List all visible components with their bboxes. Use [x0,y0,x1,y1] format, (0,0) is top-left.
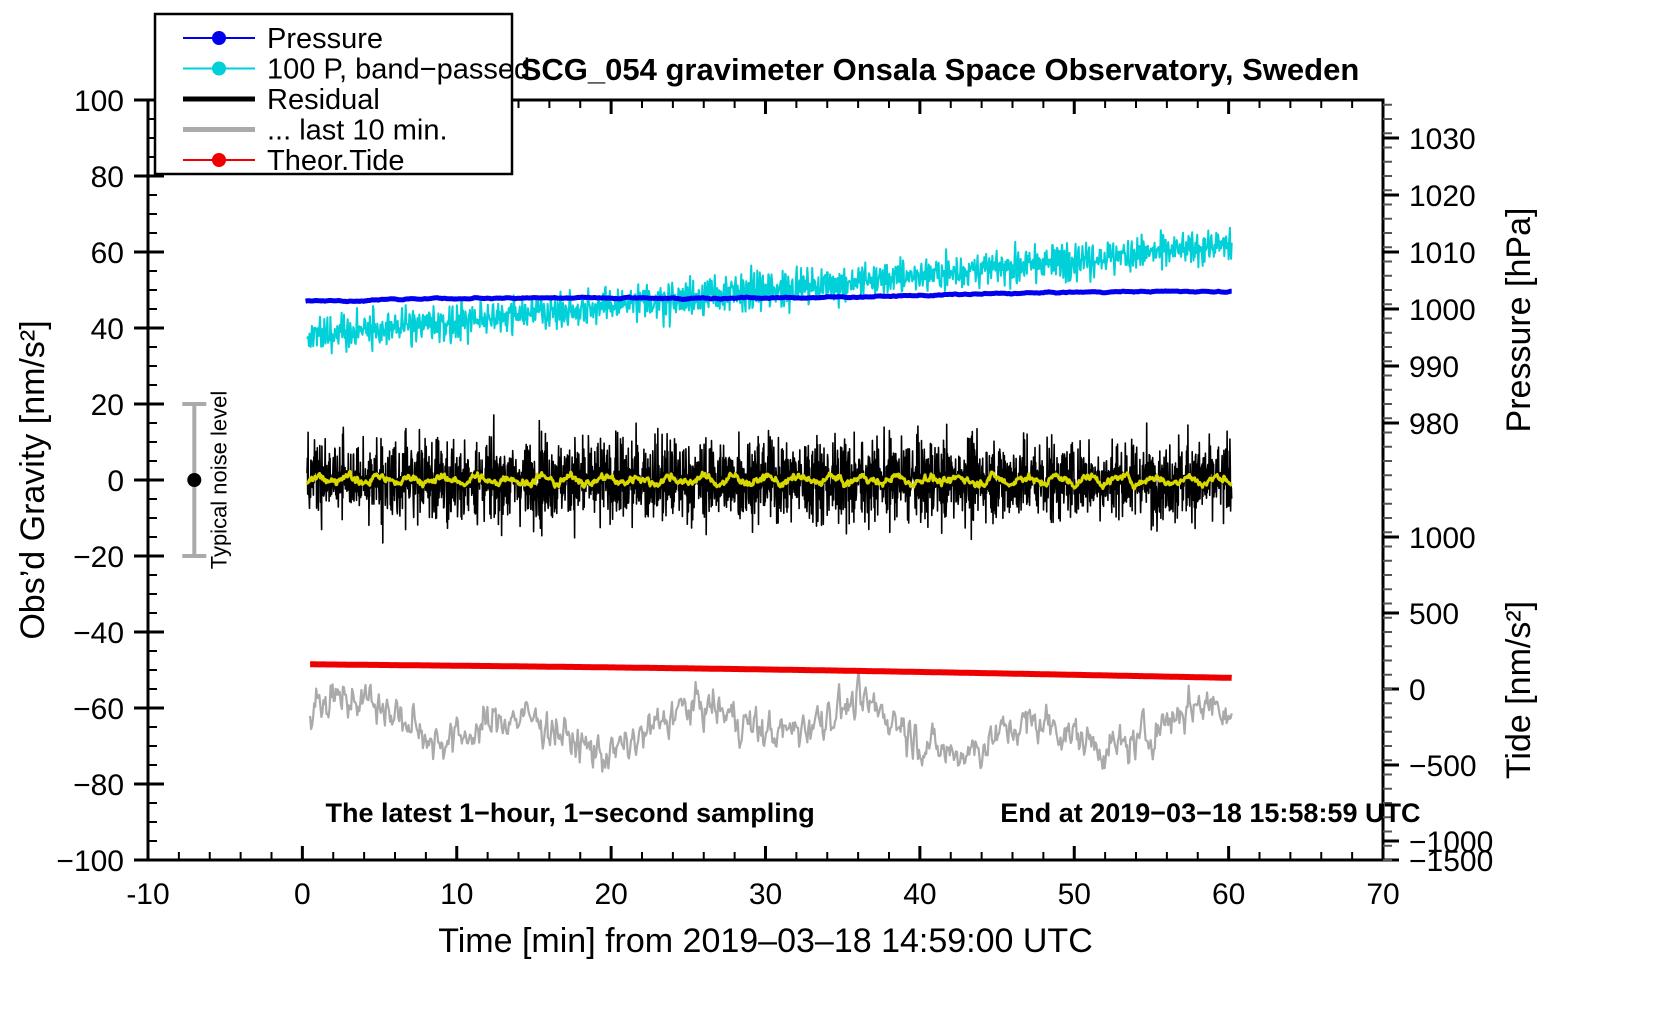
legend-label-2: 100 P, band−passed [267,54,530,86]
series-last-10-min [310,670,1232,772]
x-tick-label: 10 [440,878,473,911]
x-tick-label: -10 [126,878,169,911]
right-axis-title-pressure: Pressure [hPa] [1500,208,1538,433]
legend-label-4: ... last 10 min. [267,115,448,147]
right-tick-label-pressure: 1000 [1409,294,1476,327]
annotation-sampling-info: The latest 1−hour, 1−second sampling [326,798,815,828]
y-tick-label: −20 [73,541,124,574]
right-tick-label-tide: −500 [1409,750,1477,783]
legend-marker-2 [212,62,226,76]
x-tick-label: 50 [1058,878,1091,911]
y-tick-label: 20 [91,389,124,422]
y-tick-label: −40 [73,617,124,650]
y-tick-label: −60 [73,693,124,726]
right-tick-label-tide: 0 [1409,674,1426,707]
legend-marker-1 [212,31,226,45]
legend: Pressure100 P, band−passedResidual... la… [155,14,530,177]
legend-marker-5 [212,153,226,167]
right-tick-label-pressure: 990 [1409,351,1459,384]
right-tick-label-pressure: 1030 [1409,123,1476,156]
legend-label-3: Residual [267,84,380,116]
y-tick-label: 80 [91,161,124,194]
right-axis-title-tide: Tide [nm/s²] [1500,601,1538,779]
x-tick-label: 70 [1366,878,1399,911]
noise-level-label: Typical noise level [206,391,231,570]
x-tick-label: 30 [749,878,782,911]
noise-level-dot [187,473,201,487]
x-tick-label: 0 [294,878,311,911]
series-theor-tide [310,664,1232,678]
y-tick-label: 60 [91,237,124,270]
right-tick-label-tide: 1000 [1409,522,1476,555]
x-tick-label: 60 [1212,878,1245,911]
right-tick-label-pressure: 1010 [1409,237,1476,270]
chart-title: SCG_054 gravimeter Onsala Space Observat… [521,52,1360,87]
y-tick-label: 40 [91,313,124,346]
plot-canvas: -10010203040506070100806040200−20−40−60−… [0,0,1660,1020]
annotation-end-time: End at 2019−03−18 15:58:59 UTC [1000,798,1420,828]
right-tick-label-pressure: 980 [1409,408,1459,441]
right-tick-label-tide: 500 [1409,598,1459,631]
right-tick-label-tide: −1500 [1409,845,1493,878]
legend-label-1: Pressure [267,23,383,55]
x-tick-label: 40 [903,878,936,911]
x-axis-title: Time [min] from 2019‒03‒18 14:59:00 UTC [438,922,1093,960]
y-tick-label: 0 [107,465,124,498]
y-tick-label: −100 [56,845,124,878]
y-tick-label: −80 [73,769,124,802]
gravimeter-plot-page: -10010203040506070100806040200−20−40−60−… [0,0,1660,1020]
right-tick-label-pressure: 1020 [1409,180,1476,213]
y-axis-title: Obs’d Gravity [nm/s²] [14,320,52,639]
legend-label-5: Theor.Tide [267,145,405,177]
y-tick-label: 100 [74,85,124,118]
x-tick-label: 20 [594,878,627,911]
